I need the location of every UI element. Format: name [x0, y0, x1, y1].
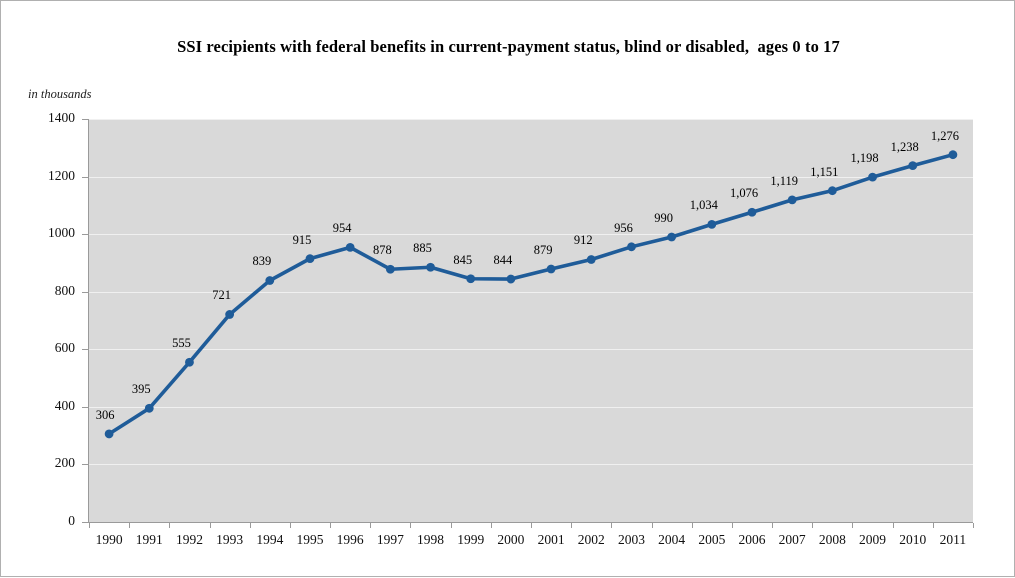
x-axis-tick [973, 523, 974, 528]
x-axis-tick [611, 523, 612, 528]
y-axis-tick [82, 234, 88, 235]
y-axis-tick [82, 349, 88, 350]
x-axis-tick [531, 523, 532, 528]
y-axis-tick-label: 1200 [15, 168, 75, 184]
gridline [89, 234, 973, 235]
x-axis-tick [652, 523, 653, 528]
x-axis-tick [772, 523, 773, 528]
data-point-label: 839 [232, 254, 292, 269]
x-axis-tick [89, 523, 90, 528]
gridline [89, 464, 973, 465]
chart-page: SSI recipients with federal benefits in … [0, 0, 1015, 577]
y-axis-tick-label: 600 [15, 340, 75, 356]
x-axis-tick [410, 523, 411, 528]
gridline [89, 349, 973, 350]
x-axis-tick [370, 523, 371, 528]
y-axis-tick [82, 522, 88, 523]
data-point-label: 1,151 [794, 165, 854, 180]
gridline [89, 407, 973, 408]
x-axis-tick [330, 523, 331, 528]
data-point-label: 721 [192, 288, 252, 303]
data-point-label: 395 [111, 382, 171, 397]
x-axis-tick [491, 523, 492, 528]
x-axis-tick [451, 523, 452, 528]
x-axis-tick [571, 523, 572, 528]
x-axis-tick [852, 523, 853, 528]
y-axis-line [88, 119, 89, 522]
plot-wrapper: 0200400600800100012001400199019911992199… [1, 1, 1015, 578]
x-axis-tick [893, 523, 894, 528]
x-axis-tick [129, 523, 130, 528]
x-axis-tick [692, 523, 693, 528]
data-point-label: 1,276 [915, 129, 975, 144]
y-axis-tick-label: 800 [15, 283, 75, 299]
y-axis-tick [82, 119, 88, 120]
y-axis-tick-label: 1400 [15, 110, 75, 126]
x-axis-tick [169, 523, 170, 528]
data-point-label: 555 [151, 336, 211, 351]
data-point-label: 954 [312, 221, 372, 236]
x-axis-tick [933, 523, 934, 528]
y-axis-tick-label: 1000 [15, 225, 75, 241]
y-axis-tick-label: 400 [15, 398, 75, 414]
x-axis-tick [732, 523, 733, 528]
y-axis-tick [82, 177, 88, 178]
x-axis-tick [290, 523, 291, 528]
data-point-label: 306 [75, 408, 135, 423]
y-axis-tick-label: 200 [15, 455, 75, 471]
x-axis-tick [250, 523, 251, 528]
y-axis-tick [82, 464, 88, 465]
x-axis-tick [812, 523, 813, 528]
y-axis-tick-label: 0 [15, 513, 75, 529]
gridline [89, 119, 973, 120]
x-axis-tick-label: 2011 [923, 532, 983, 548]
y-axis-tick [82, 292, 88, 293]
x-axis-tick [210, 523, 211, 528]
